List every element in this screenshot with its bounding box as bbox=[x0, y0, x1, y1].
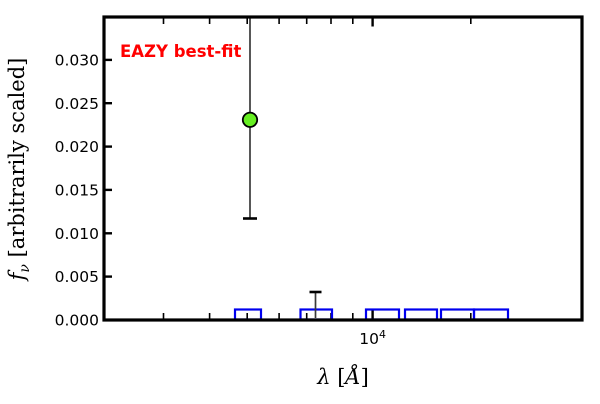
x-tick-label: 104 bbox=[359, 328, 386, 348]
y-tick-label: 0.005 bbox=[55, 268, 99, 286]
sed-plot-svg: 0.000 0.005 0.010 0.015 0.020 0.025 0.03… bbox=[0, 0, 600, 400]
chart-figure: 0.000 0.005 0.010 0.015 0.020 0.025 0.03… bbox=[0, 0, 600, 400]
x-axis-tick-labels: 104 bbox=[359, 328, 386, 348]
y-tick-label: 0.010 bbox=[55, 225, 99, 243]
x-axis-label: λ [Å] bbox=[316, 364, 369, 389]
plot-background bbox=[104, 17, 582, 320]
y-axis-label: fν [arbitrarily scaled] bbox=[5, 58, 33, 283]
y-tick-label: 0.000 bbox=[55, 312, 99, 330]
y-tick-label: 0.025 bbox=[55, 95, 99, 113]
y-tick-label: 0.020 bbox=[55, 138, 99, 156]
data-point-marker bbox=[243, 113, 257, 127]
annotation-eazy-best-fit: EAZY best-fit bbox=[120, 42, 241, 61]
y-tick-label: 0.015 bbox=[55, 182, 99, 200]
y-tick-label: 0.030 bbox=[55, 52, 99, 70]
y-axis-tick-labels: 0.000 0.005 0.010 0.015 0.020 0.025 0.03… bbox=[55, 52, 99, 330]
